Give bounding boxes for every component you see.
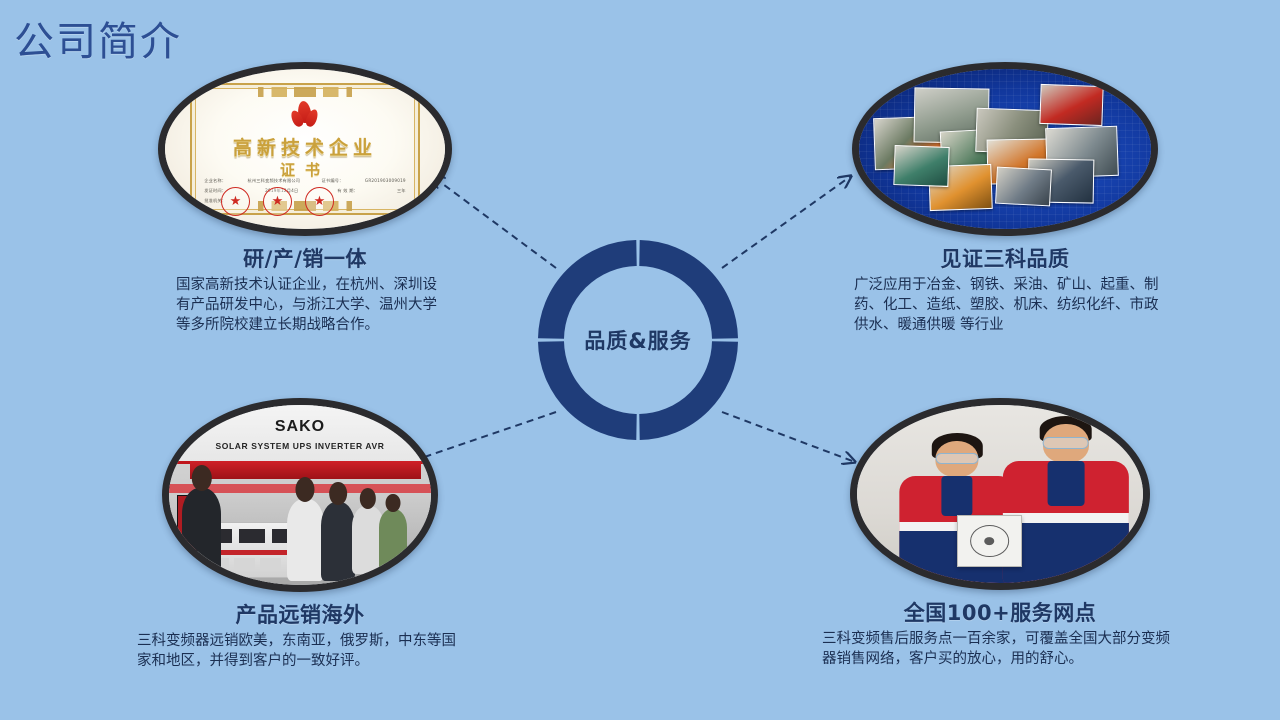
collage-tile-10 <box>995 167 1051 207</box>
node-witness-quality[interactable]: 见证三科品质 广泛应用于冶金、钢铁、采油、矿山、起重、制药、化工、造纸、塑胶、机… <box>840 62 1170 335</box>
booth-brand-label: SAKO <box>169 418 431 436</box>
technician-left-collar <box>941 476 972 516</box>
certificate-seals: ★ ★ ★ <box>221 187 334 216</box>
seal-icon-3: ★ <box>305 187 334 216</box>
certificate-field-3-value: 三年 <box>397 188 406 194</box>
certificate-artwork: 高新技术企业 证书 企业名称： 杭州三科变频技术有限公司 证书编号： GR201… <box>165 69 445 229</box>
visitor-5 <box>379 509 408 570</box>
booth-tagline-label: SOLAR SYSTEM UPS INVERTER AVR <box>169 441 431 451</box>
certificate-heading-line1: 高新技术企业 <box>165 133 445 160</box>
node-image-technicians <box>850 398 1150 590</box>
node-rd-production-sales[interactable]: 高新技术企业 证书 企业名称： 杭州三科变频技术有限公司 证书编号： GR201… <box>150 62 460 335</box>
node-title-rd-production-sales: 研/产/销一体 <box>150 243 460 273</box>
technician-right-safety-glasses <box>1042 437 1089 449</box>
node-image-industry-collage <box>852 62 1158 236</box>
node-body-overseas-export: 三科变频器远销欧美，东南亚，俄罗斯，中东等国家和地区，并得到客户的一致好评。 <box>135 631 465 671</box>
certificate-field-1-label: 证书编号： <box>322 178 344 184</box>
visitor-1 <box>182 488 221 574</box>
node-service-network[interactable]: 全国100+服务网点 三科变频售后服务点一百余家，可覆盖全国大部分变频器销售网络… <box>820 398 1180 669</box>
node-body-witness-quality: 广泛应用于冶金、钢铁、采油、矿山、起重、制药、化工、造纸、塑胶、机床、纺织化纤、… <box>840 275 1170 335</box>
node-title-service-network: 全国100+服务网点 <box>820 597 1180 627</box>
node-body-service-network: 三科变频售后服务点一百余家，可覆盖全国大部分变频器销售网络，客户买的放心，用的舒… <box>820 629 1180 669</box>
center-hub: 品质&服务 <box>528 240 748 440</box>
certificate-ornament-top <box>249 87 361 97</box>
booth-red-banner <box>190 461 421 479</box>
technician-left-safety-glasses <box>936 453 979 464</box>
inverter-device <box>957 515 1022 567</box>
node-body-rd-production-sales: 国家高新技术认证企业，在杭州、深圳设有产品研发中心，与浙江大学、温州大学等多所院… <box>150 275 460 335</box>
certificate-heading-line2: 证书 <box>165 159 445 180</box>
node-title-overseas-export: 产品远销海外 <box>135 599 465 629</box>
flame-logo-icon <box>292 101 318 131</box>
page-title: 公司简介 <box>14 9 182 67</box>
technician-right-collar <box>1047 461 1084 506</box>
expo-booth-artwork: SAKO SOLAR SYSTEM UPS INVERTER AVR <box>169 405 431 585</box>
collage-tile-11 <box>893 145 949 187</box>
collage-tile-6 <box>1039 84 1104 127</box>
visitor-2 <box>287 499 324 582</box>
technicians-artwork <box>857 405 1143 583</box>
certificate-field-1-value: GR201903009019 <box>365 178 406 184</box>
fan-grille-icon <box>970 525 1010 557</box>
slide-canvas: 公司简介 品质&服务 <box>0 0 1280 720</box>
industry-collage-artwork <box>859 69 1151 229</box>
node-image-certificate: 高新技术企业 证书 企业名称： 杭州三科变频技术有限公司 证书编号： GR201… <box>158 62 452 236</box>
certificate-field-0-label: 企业名称： <box>204 178 226 184</box>
seal-icon-1: ★ <box>221 187 250 216</box>
certificate-field-3-label: 有 效 期： <box>337 188 358 194</box>
hub-label: 品质&服务 <box>528 325 748 355</box>
node-title-witness-quality: 见证三科品质 <box>840 243 1170 273</box>
node-image-expo-booth: SAKO SOLAR SYSTEM UPS INVERTER AVR <box>162 398 438 592</box>
visitor-3 <box>321 502 355 581</box>
seal-icon-2: ★ <box>263 187 292 216</box>
certificate-field-0-value: 杭州三科变频技术有限公司 <box>248 178 301 184</box>
node-overseas-export[interactable]: SAKO SOLAR SYSTEM UPS INVERTER AVR <box>135 398 465 671</box>
